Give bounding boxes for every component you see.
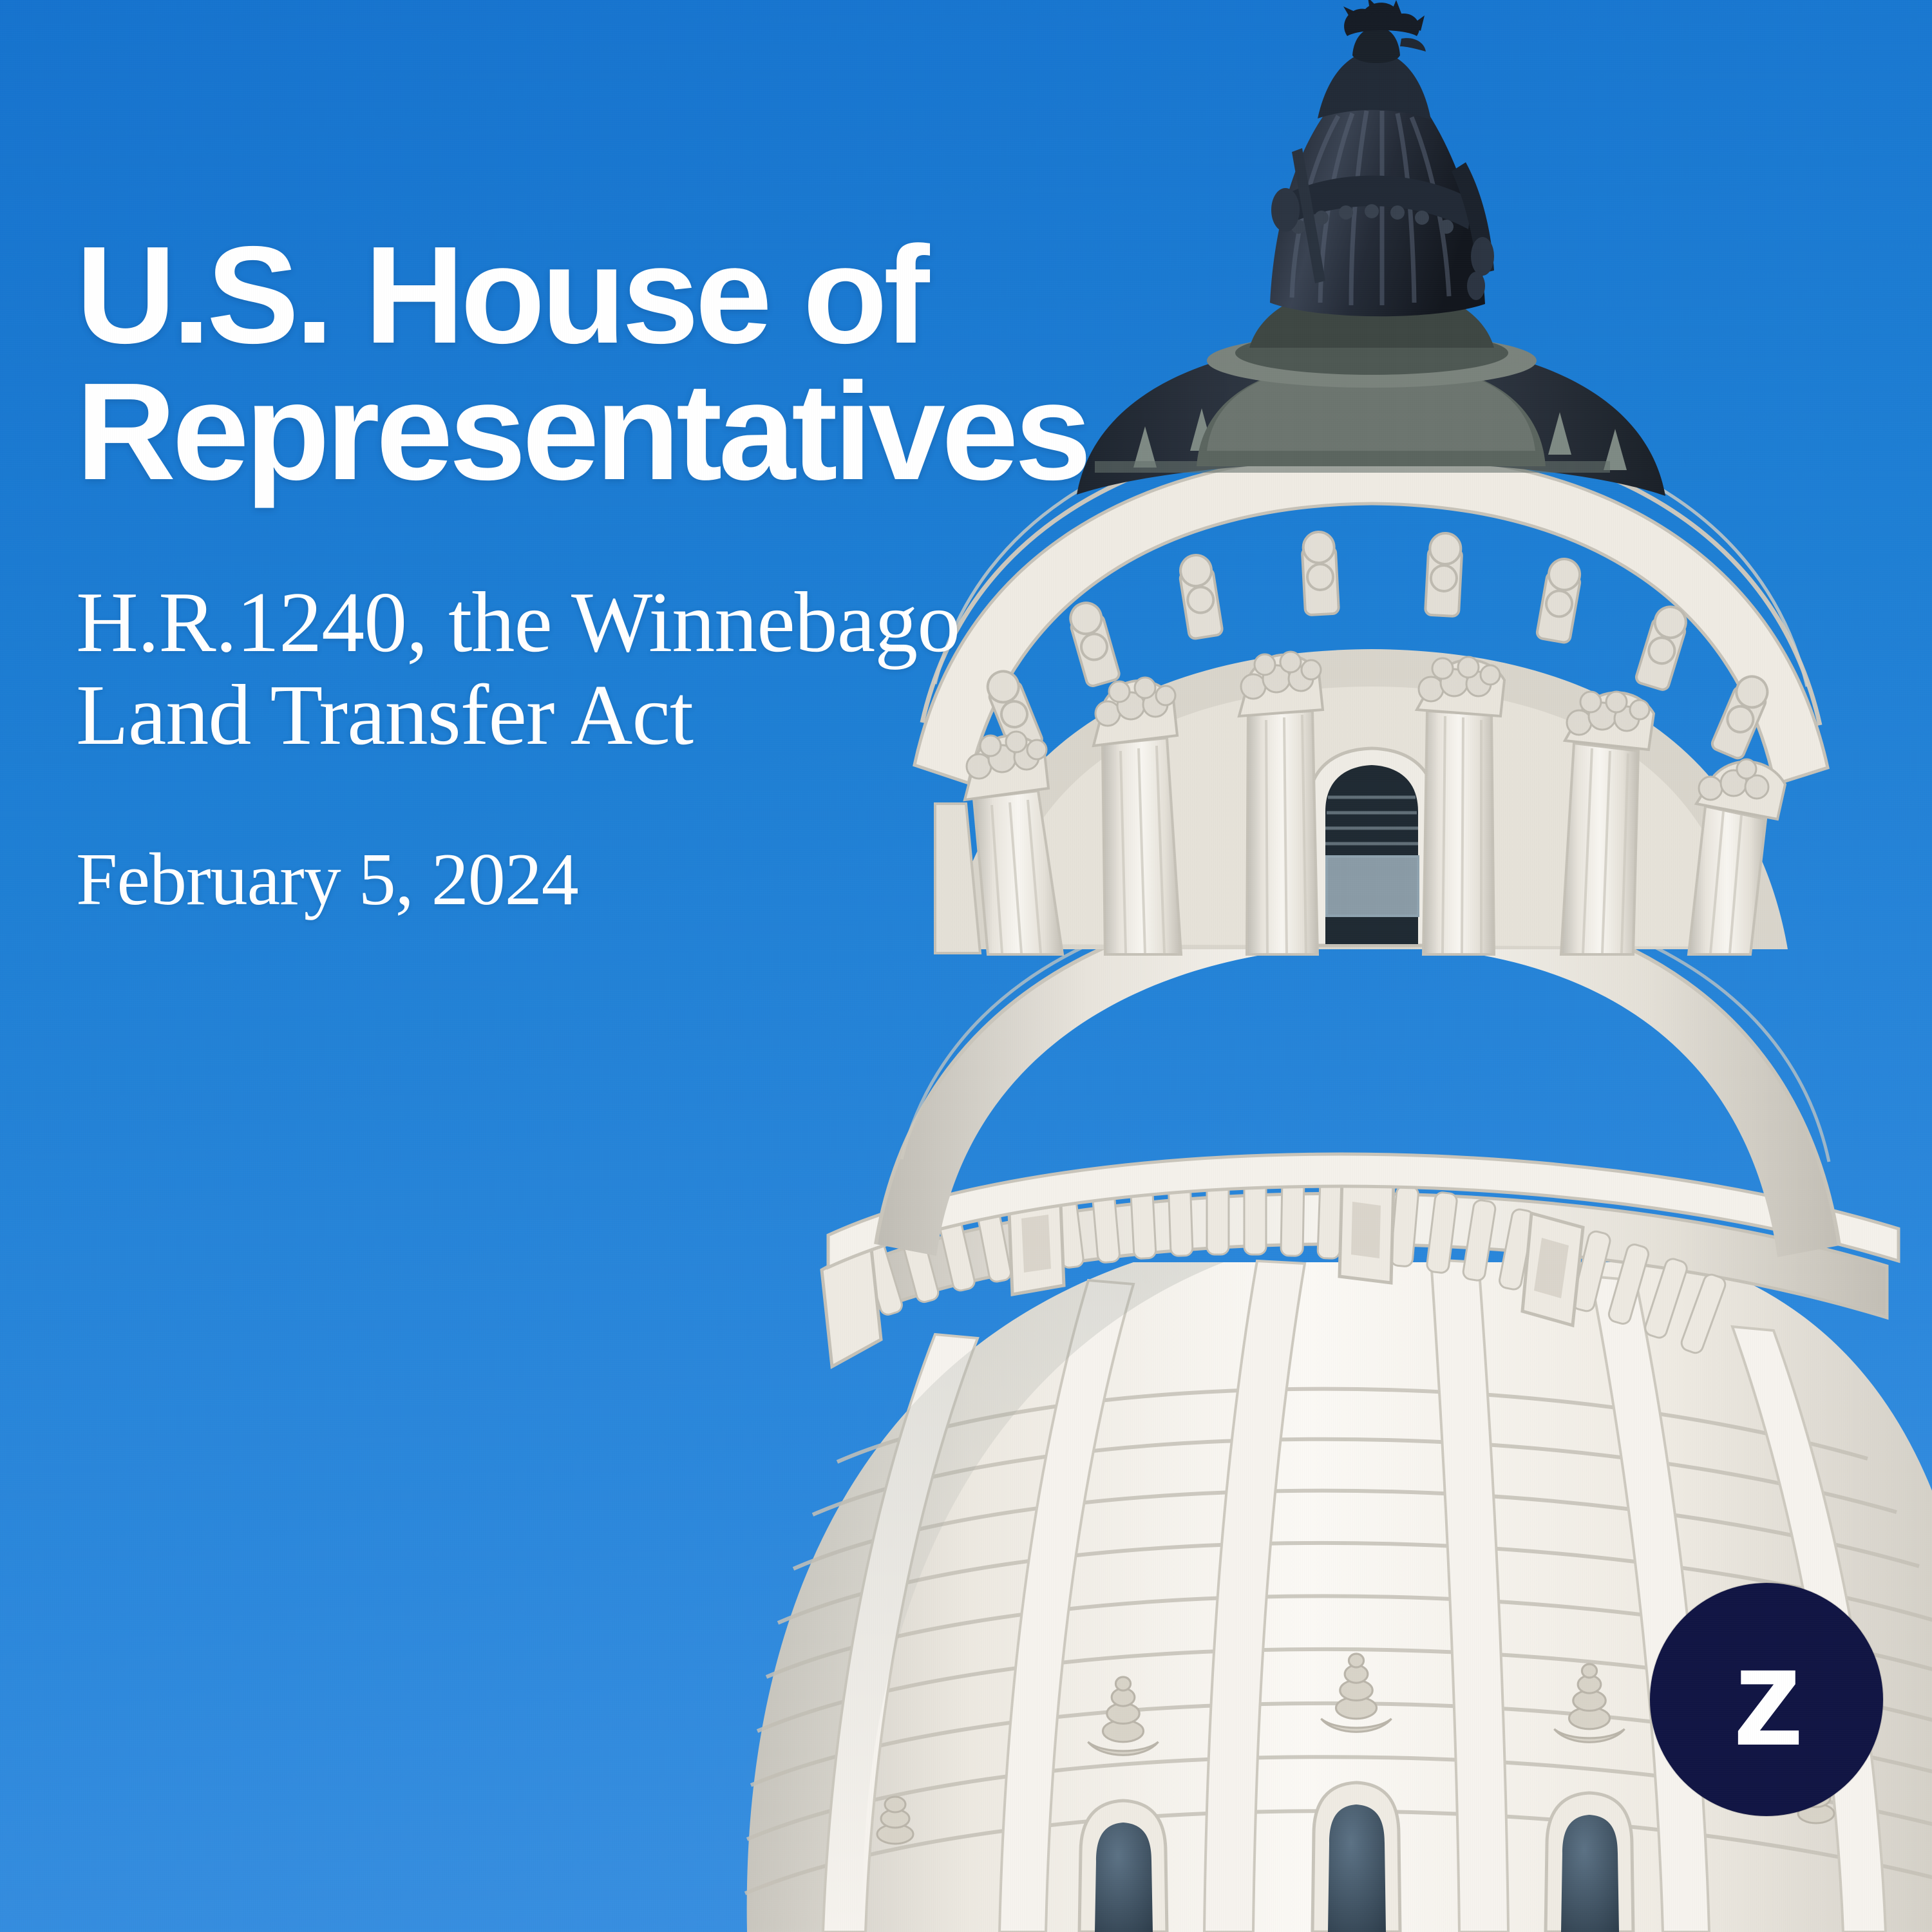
cover-text-block: U.S. House ofRepresentatives H.R.1240, t… bbox=[76, 227, 1525, 922]
subtitle-line-2: Land Transfer Act bbox=[76, 667, 693, 762]
page-title: U.S. House ofRepresentatives bbox=[76, 227, 1525, 500]
z-logo-glyph: z bbox=[1732, 1627, 1801, 1767]
subtitle-line-1: H.R.1240, the Winnebago bbox=[76, 574, 960, 670]
title-line-1: U.S. House of bbox=[76, 217, 926, 372]
episode-subtitle: H.R.1240, the WinnebagoLand Transfer Act bbox=[76, 576, 1081, 762]
episode-date: February 5, 2024 bbox=[76, 839, 1525, 922]
podcast-cover-art: U.S. House ofRepresentatives H.R.1240, t… bbox=[0, 0, 1932, 1932]
z-logo-badge[interactable]: z bbox=[1650, 1583, 1883, 1816]
title-line-2: Representatives bbox=[76, 354, 1088, 509]
